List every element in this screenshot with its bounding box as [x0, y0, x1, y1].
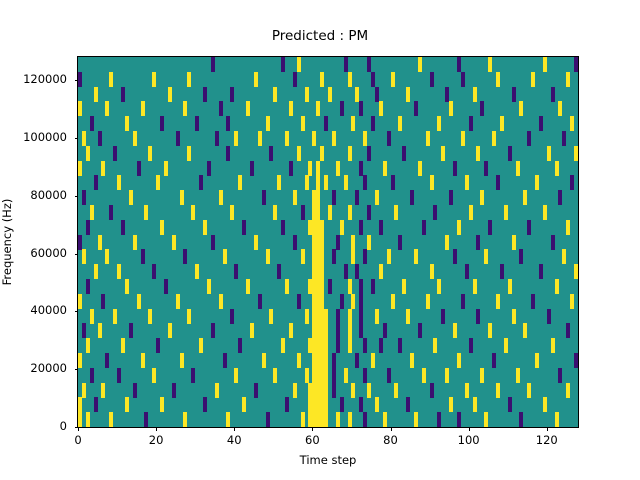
heatmap-cell	[391, 72, 395, 87]
heatmap-cell	[266, 116, 270, 131]
heatmap-cell	[152, 264, 156, 279]
heatmap-cell	[262, 190, 266, 205]
heatmap-cell	[566, 383, 570, 398]
heatmap-cell	[199, 338, 203, 353]
heatmap-cell	[519, 412, 523, 427]
heatmap-image	[78, 57, 578, 427]
heatmap-cell	[465, 175, 469, 190]
x-axis-label: Time step	[78, 453, 578, 467]
heatmap-cell	[219, 294, 223, 309]
heatmap-cell	[523, 323, 527, 338]
heatmap-cell	[457, 353, 461, 368]
heatmap-cell	[273, 205, 277, 220]
heatmap-cell	[406, 87, 410, 102]
heatmap-cell	[351, 383, 355, 398]
heatmap-cell	[379, 220, 383, 235]
x-tick-label: 60	[305, 433, 320, 447]
heatmap-cell	[195, 264, 199, 279]
heatmap-cell	[359, 101, 363, 116]
heatmap-cell	[387, 249, 391, 264]
heatmap-cell	[504, 205, 508, 220]
heatmap-cell	[203, 397, 207, 412]
heatmap-cell	[172, 383, 176, 398]
y-tick-label: 100000	[23, 130, 67, 144]
heatmap-cell	[320, 294, 324, 309]
heatmap-cell	[78, 101, 82, 116]
heatmap-cell	[348, 205, 352, 220]
y-tick-label: 120000	[23, 72, 67, 86]
heatmap-cell	[94, 264, 98, 279]
heatmap-cell	[555, 412, 559, 427]
heatmap-cell	[125, 397, 129, 412]
heatmap-cell	[351, 235, 355, 250]
heatmap-cell	[293, 383, 297, 398]
heatmap-cell	[375, 397, 379, 412]
x-tick-label: 20	[149, 433, 164, 447]
heatmap-cell	[355, 264, 359, 279]
heatmap-cell	[355, 353, 359, 368]
heatmap-cell	[476, 309, 480, 324]
x-tick-mark	[312, 428, 313, 432]
x-tick-label: 120	[536, 433, 558, 447]
heatmap-cell	[254, 72, 258, 87]
heatmap-cell	[316, 190, 320, 205]
y-axis-label: Frequency (Hz)	[0, 57, 16, 427]
heatmap-cell	[473, 279, 477, 294]
heatmap-cell	[332, 190, 336, 205]
heatmap-cell	[375, 309, 379, 324]
heatmap-cell	[281, 338, 285, 353]
heatmap-cell	[527, 383, 531, 398]
heatmap-cell	[164, 279, 168, 294]
y-tick-label: 80000	[30, 188, 67, 202]
heatmap-cell	[566, 72, 570, 87]
heatmap-cell	[160, 397, 164, 412]
heatmap-cell	[133, 235, 137, 250]
heatmap-cell	[508, 279, 512, 294]
heatmap-cell	[348, 338, 352, 353]
heatmap-cell	[297, 294, 301, 309]
heatmap-cell	[137, 294, 141, 309]
heatmap-cell	[539, 116, 543, 131]
heatmap-cell	[453, 323, 457, 338]
heatmap-cell	[422, 220, 426, 235]
heatmap-cell	[430, 383, 434, 398]
heatmap-cell	[105, 353, 109, 368]
heatmap-cell	[207, 161, 211, 176]
heatmap-cell	[324, 338, 328, 353]
heatmap-cell	[90, 309, 94, 324]
heatmap-cell	[344, 57, 348, 72]
heatmap-cell	[449, 190, 453, 205]
heatmap-cell	[109, 205, 113, 220]
heatmap-cell	[348, 72, 352, 87]
heatmap-cell	[156, 338, 160, 353]
heatmap-cell	[348, 279, 352, 294]
heatmap-cell	[445, 368, 449, 383]
heatmap-cell	[219, 101, 223, 116]
heatmap-cell	[148, 309, 152, 324]
heatmap-axes	[77, 56, 579, 428]
heatmap-cell	[359, 309, 363, 324]
heatmap-cell	[316, 205, 320, 220]
heatmap-cell	[305, 175, 309, 190]
heatmap-cell	[305, 368, 309, 383]
heatmap-cell	[226, 146, 230, 161]
heatmap-cell	[316, 161, 320, 176]
heatmap-cell	[82, 323, 86, 338]
heatmap-cell	[535, 353, 539, 368]
y-tick-mark	[75, 369, 79, 370]
heatmap-cell	[238, 175, 242, 190]
heatmap-cell	[543, 397, 547, 412]
x-tick-label: 80	[383, 433, 398, 447]
heatmap-cell	[387, 368, 391, 383]
heatmap-cell	[367, 57, 371, 72]
heatmap-cell	[156, 175, 160, 190]
heatmap-cell	[535, 175, 539, 190]
heatmap-cell	[476, 235, 480, 250]
heatmap-cell	[320, 249, 324, 264]
heatmap-cell	[453, 161, 457, 176]
heatmap-cell	[551, 87, 555, 102]
heatmap-cell	[285, 279, 289, 294]
heatmap-cell	[273, 368, 277, 383]
heatmap-cell	[363, 175, 367, 190]
heatmap-cell	[496, 294, 500, 309]
heatmap-cell	[82, 249, 86, 264]
heatmap-cell	[293, 235, 297, 250]
heatmap-cell	[375, 87, 379, 102]
heatmap-cell	[289, 161, 293, 176]
heatmap-cell	[320, 279, 324, 294]
heatmap-cell	[570, 294, 574, 309]
heatmap-cell	[301, 116, 305, 131]
heatmap-cell	[176, 294, 180, 309]
heatmap-cell	[113, 146, 117, 161]
heatmap-cell	[336, 161, 340, 176]
heatmap-cell	[574, 57, 578, 72]
heatmap-cell	[480, 190, 484, 205]
heatmap-cell	[336, 412, 340, 427]
heatmap-cell	[297, 353, 301, 368]
heatmap-cell	[328, 205, 332, 220]
heatmap-cell	[187, 309, 191, 324]
heatmap-cell	[371, 353, 375, 368]
heatmap-cell	[348, 309, 352, 324]
heatmap-cell	[551, 235, 555, 250]
heatmap-cell	[547, 309, 551, 324]
heatmap-cell	[105, 101, 109, 116]
heatmap-cell	[453, 249, 457, 264]
heatmap-cell	[492, 131, 496, 146]
heatmap-cell	[414, 249, 418, 264]
heatmap-cell	[406, 397, 410, 412]
heatmap-cell	[289, 101, 293, 116]
heatmap-cell	[152, 368, 156, 383]
heatmap-cell	[566, 323, 570, 338]
heatmap-cell	[332, 353, 336, 368]
heatmap-cell	[410, 353, 414, 368]
heatmap-cell	[324, 353, 328, 368]
x-tick-mark	[391, 428, 392, 432]
heatmap-cell	[277, 264, 281, 279]
x-tick-mark	[469, 428, 470, 432]
heatmap-cell	[234, 264, 238, 279]
heatmap-cell	[105, 249, 109, 264]
heatmap-cell	[340, 397, 344, 412]
heatmap-cell	[367, 146, 371, 161]
heatmap-cell	[148, 146, 152, 161]
heatmap-cell	[484, 249, 488, 264]
heatmap-cell	[426, 131, 430, 146]
heatmap-cell	[512, 235, 516, 250]
heatmap-cell	[332, 131, 336, 146]
heatmap-cell	[281, 220, 285, 235]
heatmap-cell	[359, 279, 363, 294]
heatmap-cell	[254, 235, 258, 250]
x-tick-label: 0	[74, 433, 81, 447]
heatmap-cell	[547, 146, 551, 161]
x-tick-mark	[547, 428, 548, 432]
heatmap-cell	[461, 131, 465, 146]
heatmap-cell	[461, 72, 465, 87]
heatmap-cell	[324, 397, 328, 412]
heatmap-cell	[351, 294, 355, 309]
y-tick-label: 20000	[30, 361, 67, 375]
heatmap-cell	[359, 294, 363, 309]
heatmap-cell	[187, 72, 191, 87]
y-tick-label: 40000	[30, 303, 67, 317]
heatmap-cell	[383, 161, 387, 176]
y-tick-mark	[75, 254, 79, 255]
heatmap-cell	[324, 383, 328, 398]
heatmap-cell	[496, 383, 500, 398]
heatmap-cell	[78, 161, 82, 176]
heatmap-cell	[308, 161, 312, 176]
heatmap-cell	[469, 338, 473, 353]
heatmap-cell	[215, 131, 219, 146]
heatmap-cell	[109, 412, 113, 427]
heatmap-cell	[398, 338, 402, 353]
heatmap-cell	[152, 72, 156, 87]
heatmap-cell	[324, 116, 328, 131]
heatmap-cell	[125, 116, 129, 131]
heatmap-cell	[527, 220, 531, 235]
heatmap-cell	[305, 87, 309, 102]
heatmap-cell	[348, 412, 352, 427]
heatmap-cell	[94, 87, 98, 102]
heatmap-cell	[246, 101, 250, 116]
heatmap-cell	[398, 116, 402, 131]
y-tick-mark	[75, 138, 79, 139]
heatmap-cell	[344, 368, 348, 383]
heatmap-cell	[473, 87, 477, 102]
heatmap-cell	[531, 72, 535, 87]
heatmap-cell	[383, 323, 387, 338]
heatmap-cell	[242, 220, 246, 235]
heatmap-cell	[367, 205, 371, 220]
heatmap-cell	[226, 412, 230, 427]
heatmap-cell	[574, 353, 578, 368]
heatmap-cell	[437, 412, 441, 427]
heatmap-cell	[125, 279, 129, 294]
heatmap-cell	[465, 383, 469, 398]
heatmap-cell	[191, 368, 195, 383]
heatmap-cell	[129, 190, 133, 205]
heatmap-cell	[90, 116, 94, 131]
heatmap-cell	[391, 175, 395, 190]
heatmap-cell	[129, 323, 133, 338]
heatmap-cell	[180, 353, 184, 368]
heatmap-cell	[254, 383, 258, 398]
heatmap-cell	[457, 220, 461, 235]
heatmap-cell	[324, 368, 328, 383]
heatmap-cell	[324, 412, 328, 427]
heatmap-cell	[508, 146, 512, 161]
heatmap-cell	[457, 57, 461, 72]
heatmap-cell	[223, 353, 227, 368]
heatmap-cell	[340, 101, 344, 116]
heatmap-cell	[223, 249, 227, 264]
heatmap-cell	[266, 412, 270, 427]
heatmap-cell	[180, 190, 184, 205]
heatmap-cell	[418, 57, 422, 72]
heatmap-cell	[133, 383, 137, 398]
heatmap-cell	[98, 323, 102, 338]
heatmap-cell	[269, 309, 273, 324]
heatmap-cell	[363, 131, 367, 146]
heatmap-cell	[566, 220, 570, 235]
heatmap-cell	[562, 131, 566, 146]
heatmap-cell	[379, 338, 383, 353]
heatmap-cell	[351, 249, 355, 264]
heatmap-cell	[215, 383, 219, 398]
heatmap-cell	[332, 368, 336, 383]
heatmap-cell	[285, 131, 289, 146]
heatmap-cell	[176, 131, 180, 146]
heatmap-cell	[445, 235, 449, 250]
heatmap-cell	[340, 220, 344, 235]
heatmap-cell	[422, 368, 426, 383]
heatmap-cell	[258, 294, 262, 309]
heatmap-cell	[117, 175, 121, 190]
heatmap-cell	[141, 249, 145, 264]
heatmap-cell	[172, 235, 176, 250]
heatmap-cell	[238, 338, 242, 353]
heatmap-cell	[168, 323, 172, 338]
heatmap-cell	[187, 146, 191, 161]
heatmap-cell	[519, 249, 523, 264]
heatmap-cell	[441, 146, 445, 161]
heatmap-cell	[543, 57, 547, 72]
heatmap-cell	[203, 220, 207, 235]
heatmap-cell	[332, 249, 336, 264]
heatmap-cell	[383, 412, 387, 427]
heatmap-cell	[394, 383, 398, 398]
heatmap-cell	[457, 412, 461, 427]
heatmap-cell	[473, 397, 477, 412]
heatmap-cell	[144, 205, 148, 220]
heatmap-cell	[351, 116, 355, 131]
heatmap-cell	[430, 175, 434, 190]
heatmap-cell	[90, 205, 94, 220]
heatmap-cell	[402, 146, 406, 161]
heatmap-cell	[375, 190, 379, 205]
chart-title: Predicted : PM	[0, 28, 640, 44]
heatmap-cell	[168, 87, 172, 102]
x-tick-label: 100	[458, 433, 480, 447]
heatmap-cell	[117, 264, 121, 279]
heatmap-cell	[305, 309, 309, 324]
heatmap-cell	[402, 279, 406, 294]
heatmap-cell	[332, 383, 336, 398]
heatmap-cell	[398, 235, 402, 250]
x-tick-mark	[78, 428, 79, 432]
heatmap-cell	[101, 161, 105, 176]
heatmap-cell	[445, 87, 449, 102]
heatmap-cell	[301, 249, 305, 264]
heatmap-cell	[344, 264, 348, 279]
heatmap-cell	[117, 368, 121, 383]
heatmap-cell	[469, 116, 473, 131]
heatmap-cell	[141, 101, 145, 116]
heatmap-cell	[449, 101, 453, 116]
heatmap-cell	[207, 279, 211, 294]
heatmap-cell	[195, 116, 199, 131]
x-tick-label: 40	[227, 433, 242, 447]
heatmap-cell	[371, 279, 375, 294]
heatmap-cell	[348, 146, 352, 161]
heatmap-cell	[312, 131, 316, 146]
heatmap-cell	[246, 279, 250, 294]
heatmap-cell	[394, 205, 398, 220]
heatmap-cell	[363, 412, 367, 427]
heatmap-cell	[344, 175, 348, 190]
heatmap-cell	[391, 294, 395, 309]
heatmap-cell	[230, 87, 234, 102]
heatmap-cell	[316, 101, 320, 116]
heatmap-cell	[273, 87, 277, 102]
heatmap-cell	[219, 190, 223, 205]
heatmap-cell	[355, 190, 359, 205]
heatmap-cell	[363, 338, 367, 353]
heatmap-cell	[234, 368, 238, 383]
heatmap-cell	[234, 131, 238, 146]
heatmap-cell	[492, 353, 496, 368]
heatmap-cell	[250, 323, 254, 338]
heatmap-cell	[137, 161, 141, 176]
heatmap-cell	[336, 338, 340, 353]
heatmap-cell	[371, 72, 375, 87]
heatmap-cell	[414, 412, 418, 427]
heatmap-cell	[211, 323, 215, 338]
heatmap-cell	[301, 205, 305, 220]
heatmap-cell	[359, 323, 363, 338]
heatmap-cell	[101, 294, 105, 309]
heatmap-cell	[512, 87, 516, 102]
heatmap-cell	[324, 175, 328, 190]
heatmap-cell	[336, 323, 340, 338]
heatmap-cell	[519, 101, 523, 116]
heatmap-cell	[141, 353, 145, 368]
heatmap-cell	[387, 131, 391, 146]
heatmap-cell	[78, 397, 82, 412]
heatmap-cell	[269, 146, 273, 161]
heatmap-cell	[570, 175, 574, 190]
heatmap-cell	[379, 264, 383, 279]
heatmap-cell	[410, 190, 414, 205]
